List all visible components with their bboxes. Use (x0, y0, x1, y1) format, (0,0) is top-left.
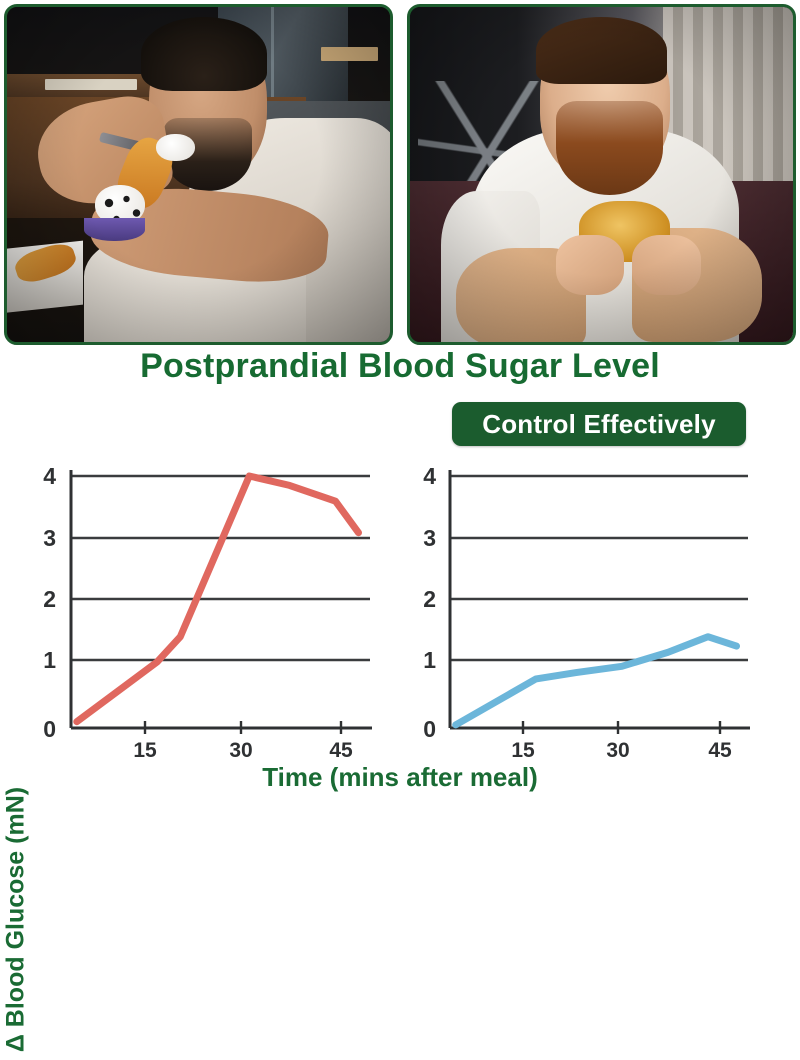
charts-area: 4 3 2 1 0 15 30 45 (0, 440, 800, 800)
ytick-2: 2 (423, 586, 436, 612)
chart-after-x-ticklabels: 15 30 45 (511, 739, 732, 762)
series-after-control-line (456, 637, 737, 725)
ytick-0: 0 (423, 716, 436, 742)
ytick-3: 3 (43, 525, 56, 551)
photo-strip (0, 0, 800, 345)
photo-man-eating-churros-dessert (7, 7, 390, 342)
photo-card-left (4, 4, 393, 345)
chart-after-y-ticklabels: 4 3 2 1 0 (423, 463, 436, 742)
chart-before-control: 4 3 2 1 0 15 30 45 (43, 463, 372, 762)
chart-after-gridlines (450, 476, 748, 660)
badge-label: Control Effectively (482, 409, 716, 440)
photo-man-eating-burger (410, 7, 793, 342)
xtick-45: 45 (329, 739, 353, 762)
chart-before-x-ticklabels: 15 30 45 (133, 739, 353, 762)
ytick-2: 2 (43, 586, 56, 612)
xtick-30: 30 (229, 739, 252, 762)
photo-scene-left (7, 7, 390, 342)
y-axis-label: Δ Blood Glucose (mN) (2, 780, 31, 1060)
xtick-45: 45 (708, 739, 732, 762)
poster-root: Postprandial Blood Sugar Level Control E… (0, 0, 800, 800)
page-title: Postprandial Blood Sugar Level (0, 347, 800, 386)
x-axis-label: Time (mins after meal) (0, 762, 800, 793)
xtick-15: 15 (511, 739, 535, 762)
ytick-0: 0 (43, 716, 56, 742)
ytick-1: 1 (423, 647, 436, 673)
ytick-3: 3 (423, 525, 436, 551)
blood-glucose-charts-svg: 4 3 2 1 0 15 30 45 (0, 440, 800, 800)
chart-before-gridlines (71, 476, 370, 660)
photo-scene-right (410, 7, 793, 342)
chart-after-control: 4 3 2 1 0 15 30 45 (423, 463, 750, 762)
chart-before-y-ticklabels: 4 3 2 1 0 (43, 463, 56, 742)
photo-card-right (407, 4, 796, 345)
xtick-15: 15 (133, 739, 157, 762)
ytick-4: 4 (43, 463, 56, 489)
ytick-4: 4 (423, 463, 436, 489)
xtick-30: 30 (606, 739, 629, 762)
ytick-1: 1 (43, 647, 56, 673)
